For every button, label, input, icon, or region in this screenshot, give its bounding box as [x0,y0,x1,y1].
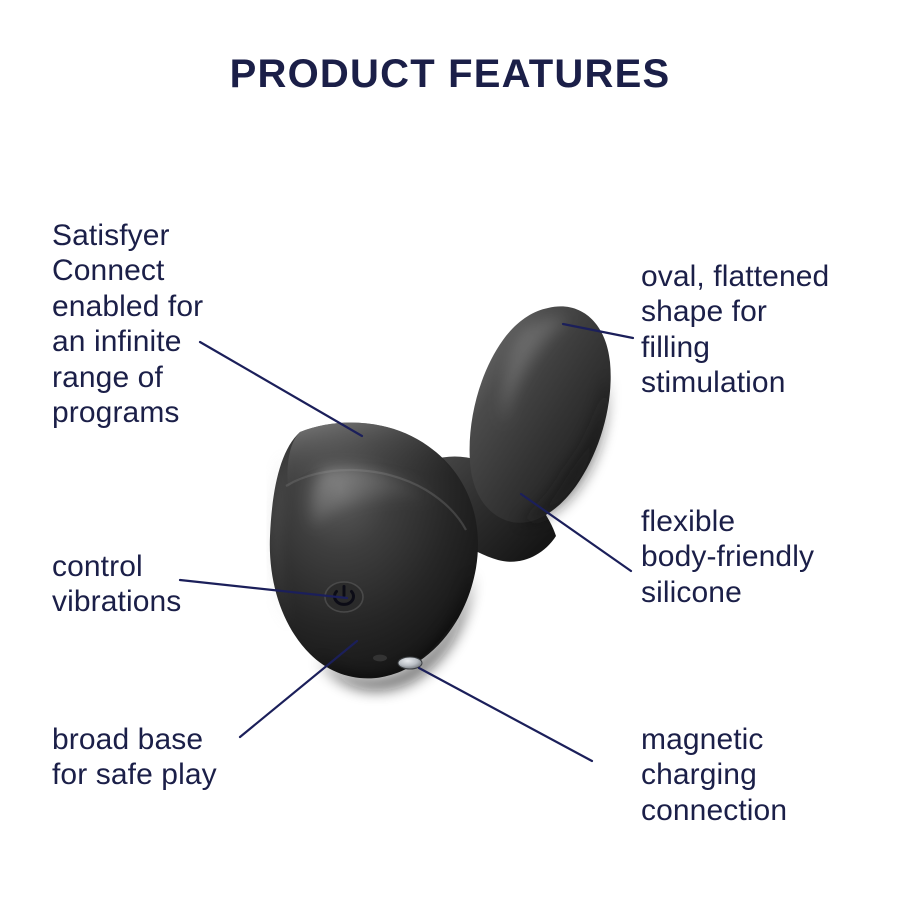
feature-label-oval-flattened-shape: oval, flattened shape for filling stimul… [641,259,891,401]
feature-label-control-vibrations: control vibrations [52,549,312,620]
feature-label-magnetic-charging: magnetic charging connection [641,722,891,828]
product-tip [470,306,611,522]
feature-label-broad-base: broad base for safe play [52,722,332,793]
feature-label-flexible-silicone: flexible body-friendly silicone [641,504,891,610]
product-features-page: PRODUCT FEATURES [0,0,900,900]
feature-label-satisfyer-connect: Satisfyer Connect enabled for an infinit… [52,218,312,430]
leader-line-magnetic-charging [419,668,592,761]
